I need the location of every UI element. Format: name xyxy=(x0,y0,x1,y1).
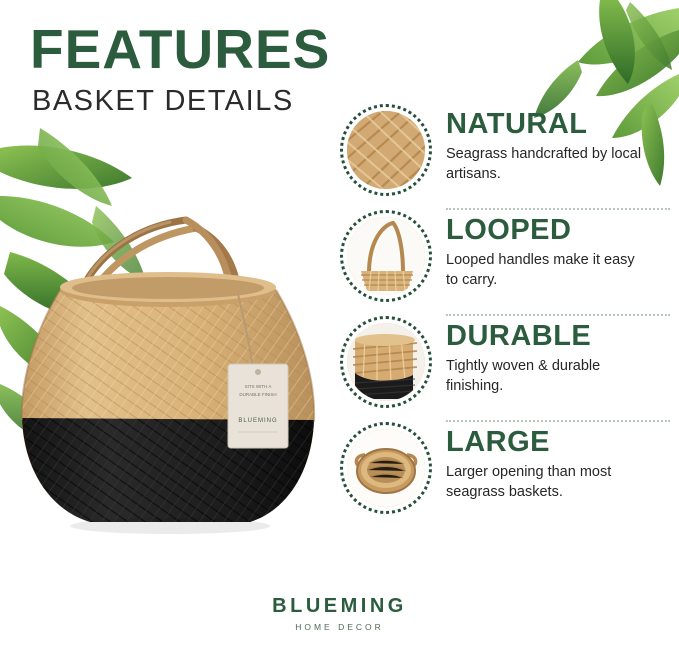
feature-item-durable: DURABLE Tightly woven & durable finishin… xyxy=(340,316,670,420)
thumb-ring-natural xyxy=(340,104,432,196)
feature-item-looped: LOOPED Looped handles make it easy to ca… xyxy=(340,210,670,314)
feature-item-natural: NATURAL Seagrass handcrafted by local ar… xyxy=(340,104,670,208)
feature-desc-large: Larger opening than most seagrass basket… xyxy=(446,463,646,502)
thumb-rim-closeup xyxy=(340,316,432,408)
feature-title-durable: DURABLE xyxy=(446,322,670,351)
tag-line-2: DURABLE FINISH xyxy=(239,392,276,397)
feature-text-natural: NATURAL Seagrass handcrafted by local ar… xyxy=(446,104,670,184)
feature-text-durable: DURABLE Tightly woven & durable finishin… xyxy=(446,316,670,396)
feature-item-large: LARGE Larger opening than most seagrass … xyxy=(340,422,670,526)
basket-svg: SITS WITH A DURABLE FINISH BLUEMING xyxy=(0,170,340,590)
tag-line-1: SITS WITH A xyxy=(245,384,272,389)
thumb-ring-durable xyxy=(340,316,432,408)
feature-title-large: LARGE xyxy=(446,428,670,457)
thumb-handle-closeup xyxy=(340,210,432,302)
brand-tagline: HOME DECOR xyxy=(0,622,679,632)
page-title: FEATURES xyxy=(30,22,430,77)
product-image: SITS WITH A DURABLE FINISH BLUEMING xyxy=(0,170,340,590)
feature-title-looped: LOOPED xyxy=(446,216,670,245)
feature-desc-durable: Tightly woven & durable finishing. xyxy=(446,357,646,396)
brand-name: BLUEMING xyxy=(0,595,679,618)
thumb-opening-closeup xyxy=(340,422,432,514)
thumb-ring-looped xyxy=(340,210,432,302)
basket-body xyxy=(0,270,340,540)
feature-desc-looped: Looped handles make it easy to carry. xyxy=(446,251,646,290)
feature-list: NATURAL Seagrass handcrafted by local ar… xyxy=(340,104,670,526)
tag-brand: BLUEMING xyxy=(238,418,277,424)
thumb-weave-closeup xyxy=(340,104,432,196)
feature-desc-natural: Seagrass handcrafted by local artisans. xyxy=(446,145,646,184)
feature-text-looped: LOOPED Looped handles make it easy to ca… xyxy=(446,210,670,290)
thumb-ring-large xyxy=(340,422,432,514)
brand-footer: BLUEMING HOME DECOR xyxy=(0,595,679,632)
feature-text-large: LARGE Larger opening than most seagrass … xyxy=(446,422,670,502)
feature-title-natural: NATURAL xyxy=(446,110,670,139)
